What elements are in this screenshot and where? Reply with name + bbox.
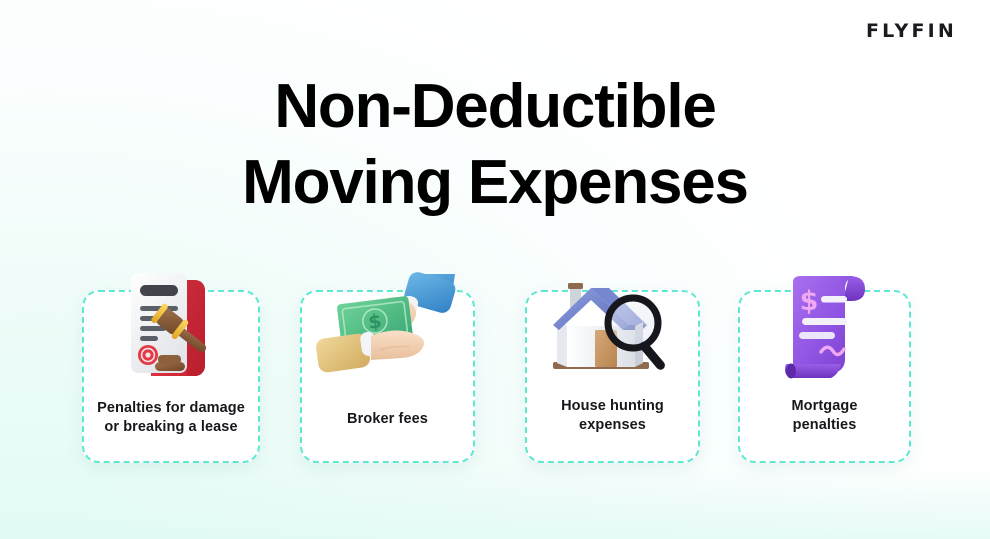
title-line-1: Non-Deductible [0, 76, 990, 138]
svg-text:$: $ [799, 286, 818, 317]
card-penalties[interactable]: Penalties for damage or breaking a lease [82, 290, 260, 463]
card-label: Mortgage penalties [746, 397, 903, 435]
card-broker-fees[interactable]: $ Broker fees [300, 290, 475, 463]
title-line-2: Moving Expenses [0, 152, 990, 214]
house-magnifier-icon [527, 270, 698, 388]
card-row: Penalties for damage or breaking a lease [0, 290, 990, 465]
infographic-canvas: FLYFIN Non-Deductible Moving Expenses [0, 0, 990, 539]
card-house-hunting[interactable]: House hunting expenses [525, 290, 700, 463]
card-label-line-2: or breaking a lease [104, 419, 237, 435]
flyfin-logo: FLYFIN [866, 22, 957, 41]
card-label-line-1: House hunting [561, 398, 664, 414]
card-label-line-1: Penalties for damage [97, 400, 245, 416]
page-title: Non-Deductible Moving Expenses [0, 76, 990, 214]
card-label-line-2: expenses [579, 417, 646, 433]
card-label: House hunting expenses [533, 397, 692, 435]
card-label: Broker fees [308, 410, 467, 429]
card-label-line-1: Mortgage [791, 398, 857, 414]
title-line-1-text: Non-Deductible [274, 72, 715, 141]
title-highlight: Non-Deductible [272, 76, 717, 138]
card-label-line-2: penalties [793, 417, 857, 433]
card-label-line-1: Broker fees [347, 411, 428, 427]
card-mortgage-penalties[interactable]: $ Mortgage penalties [738, 290, 911, 463]
legal-document-gavel-icon [84, 270, 258, 388]
svg-text:$: $ [367, 310, 383, 333]
card-label: Penalties for damage or breaking a lease [90, 399, 252, 437]
mortgage-invoice-scroll-icon: $ [740, 270, 909, 388]
cash-handover-icon: $ [302, 270, 473, 388]
bottom-fade-band [0, 467, 990, 539]
